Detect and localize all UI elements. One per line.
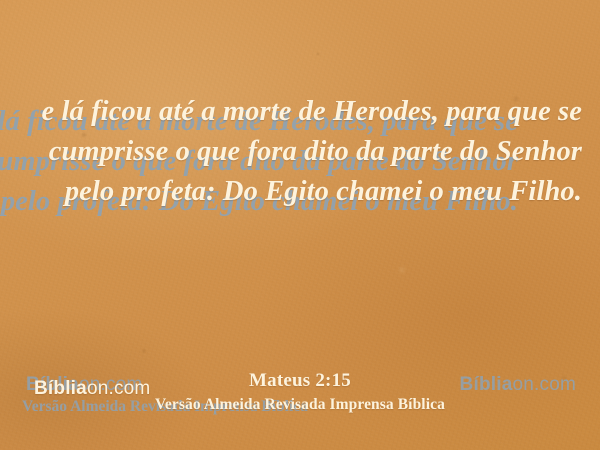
verse-reference: Mateus 2:15	[0, 370, 600, 392]
verse-card: e lá ficou até a morte de Herodes, para …	[0, 0, 600, 450]
verse-attribution: Mateus 2:15 Versão Almeida Revisada Impr…	[0, 370, 600, 414]
verse-version: Versão Almeida Revisada Imprensa Bíblica	[0, 396, 600, 414]
card-footer: Bíbliaon.com Versão Almeida Revisada Imp…	[0, 362, 600, 450]
verse-text: e lá ficou até a morte de Herodes, para …	[0, 92, 600, 212]
